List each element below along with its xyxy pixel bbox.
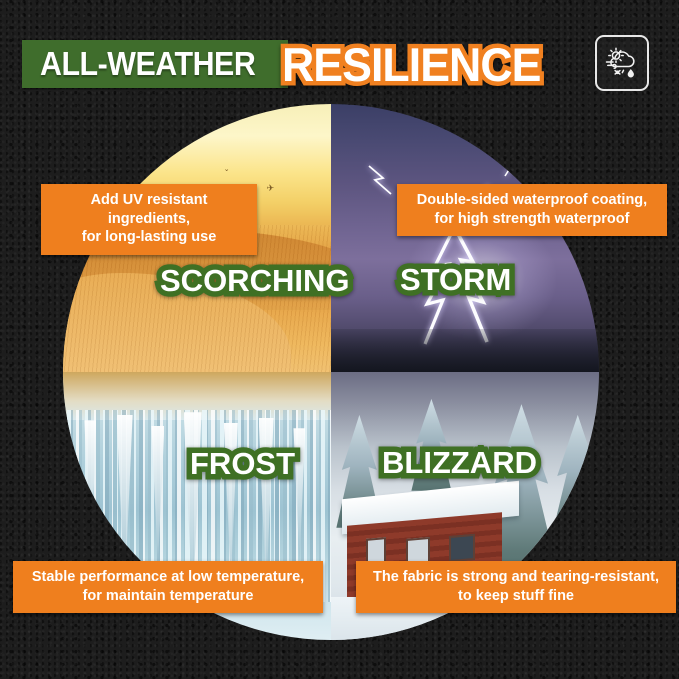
caption-line-1: Add UV resistant ingredients,	[91, 192, 208, 227]
sun-cloud-rain-wind-icon	[603, 44, 641, 82]
caption-line-1: Double-sided waterproof coating,	[417, 192, 647, 208]
header-all-weather-text: ALL-WEATHER	[40, 45, 255, 83]
weather-badge	[595, 35, 649, 91]
caption-line-1: Stable performance at low temperature,	[32, 569, 304, 585]
caption-frost: Stable performance at low temperature, f…	[13, 561, 323, 613]
quadrant-title-frost: FROST	[190, 446, 295, 482]
bird-silhouette: ✈	[267, 184, 275, 193]
cabin-window	[449, 534, 475, 562]
snowy-pine-tree	[551, 415, 599, 576]
caption-scorching: Add UV resistant ingredients, for long-l…	[41, 184, 257, 255]
header-resilience-text: RESILIENCE	[282, 41, 540, 88]
caption-line-2: to keep stuff fine	[366, 587, 666, 606]
scene-storm	[331, 104, 599, 372]
caption-storm: Double-sided waterproof coating, for hig…	[397, 184, 667, 236]
header-green-plate: ALL-WEATHER	[22, 40, 288, 88]
quadrant-title-blizzard: BLIZZARD	[382, 445, 537, 481]
caption-blizzard: The fabric is strong and tearing-resista…	[356, 561, 676, 613]
caption-line-2: for maintain temperature	[23, 587, 313, 606]
caption-line-2: for high strength waterproof	[407, 210, 657, 229]
quadrant-title-scorching: SCORCHING	[160, 263, 349, 299]
header-banner: ALL-WEATHER RESILIENCE	[22, 33, 657, 95]
bird-silhouette: ⌄	[224, 166, 230, 173]
quadrant-title-storm: STORM	[400, 262, 511, 298]
caption-line-1: The fabric is strong and tearing-resista…	[373, 569, 659, 585]
storm-horizon	[331, 329, 599, 372]
caption-line-2: for long-lasting use	[51, 228, 247, 247]
infographic-canvas: ALL-WEATHER RESILIENCE	[0, 0, 679, 679]
